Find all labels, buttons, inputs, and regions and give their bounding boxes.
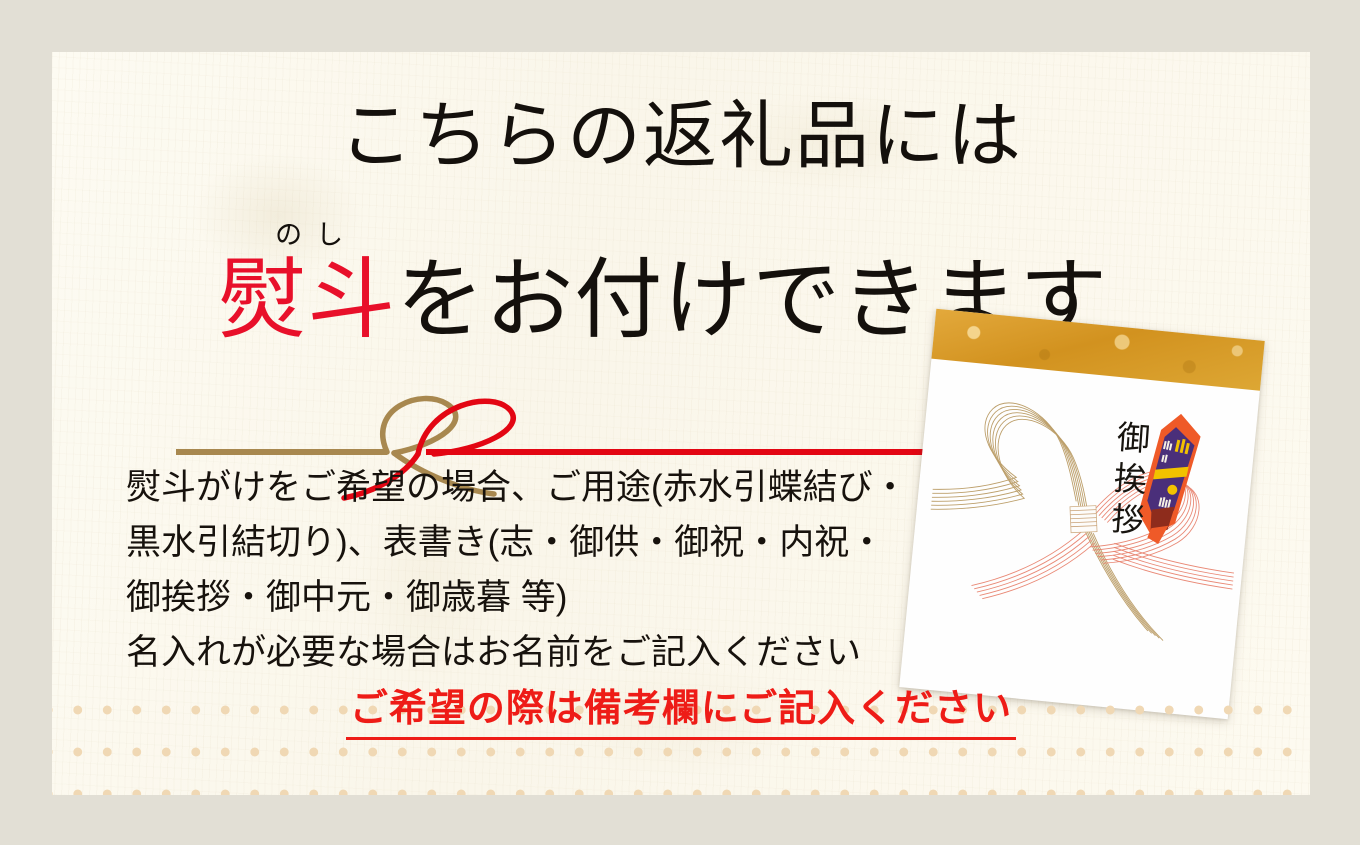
envelope-paper: 御挨拶 xyxy=(899,309,1265,719)
noshi-envelope-image: 御挨拶 xyxy=(899,309,1265,719)
body-description: 熨斗がけをご希望の場合、ご用途(赤水引蝶結び・ 黒水引結切り)、表書き(志・御供… xyxy=(126,460,926,680)
footer-note-text: ご希望の際は備考欄にご記入ください xyxy=(346,677,1016,740)
noshi-notice-banner: こちらの返礼品には のし 熨斗 をお付けできます xyxy=(0,0,1360,845)
furigana-noshi: のし xyxy=(261,222,357,249)
noshi-kanji-with-ruby: のし 熨斗 xyxy=(218,224,396,346)
headline-line-1: こちらの返礼品には xyxy=(52,100,1310,174)
washi-paper-panel: こちらの返礼品には のし 熨斗 をお付けできます xyxy=(52,52,1310,795)
body-line-3: 御挨拶・御中元・御歳暮 等) xyxy=(126,570,926,625)
noshi-kanji: 熨斗 xyxy=(218,258,396,346)
body-line-2: 黒水引結切り)、表書き(志・御供・御祝・内祝・ xyxy=(126,515,926,570)
envelope-mizuhiki-artwork xyxy=(899,309,1265,719)
body-line-4: 名入れが必要な場合はお名前をご記入ください xyxy=(126,625,926,680)
envelope-omotegaki-text: 御挨拶 xyxy=(1099,419,1154,545)
mizuhiki-knot xyxy=(1067,503,1099,535)
footer-call-to-action: ご希望の際は備考欄にご記入ください xyxy=(52,677,1310,740)
body-line-1: 熨斗がけをご希望の場合、ご用途(赤水引蝶結び・ xyxy=(126,460,926,515)
